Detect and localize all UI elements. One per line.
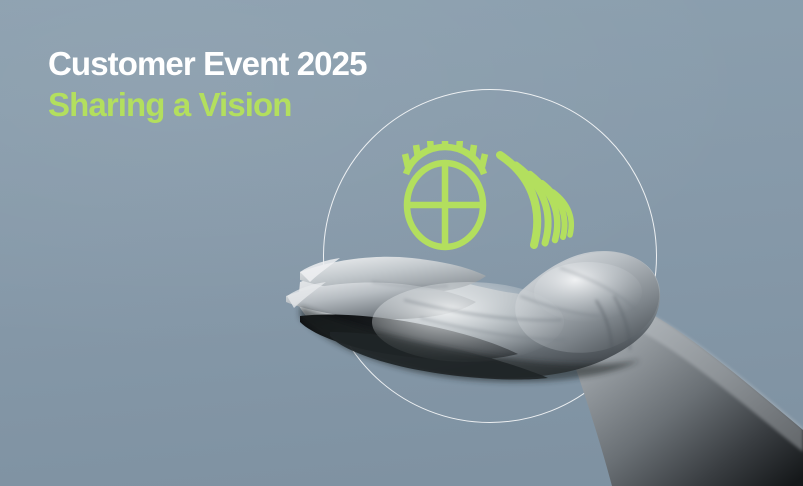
headline-block: Customer Event 2025 Sharing a Vision — [48, 43, 367, 125]
crown-spike-2 — [416, 145, 418, 158]
crown-spike-3 — [430, 141, 431, 151]
page-title: Customer Event 2025 — [48, 43, 367, 84]
green-wave-swoosh — [500, 155, 571, 245]
crown-spike-6 — [472, 145, 474, 158]
crown-spike-1 — [405, 154, 408, 167]
event-banner: Customer Event 2025 Sharing a Vision — [0, 0, 803, 486]
crown-spike-5 — [459, 141, 460, 151]
crown-spike-7 — [482, 154, 485, 167]
event-logo — [398, 141, 578, 253]
crowned-circle-cross-emblem — [407, 163, 483, 247]
page-subtitle: Sharing a Vision — [48, 84, 367, 125]
